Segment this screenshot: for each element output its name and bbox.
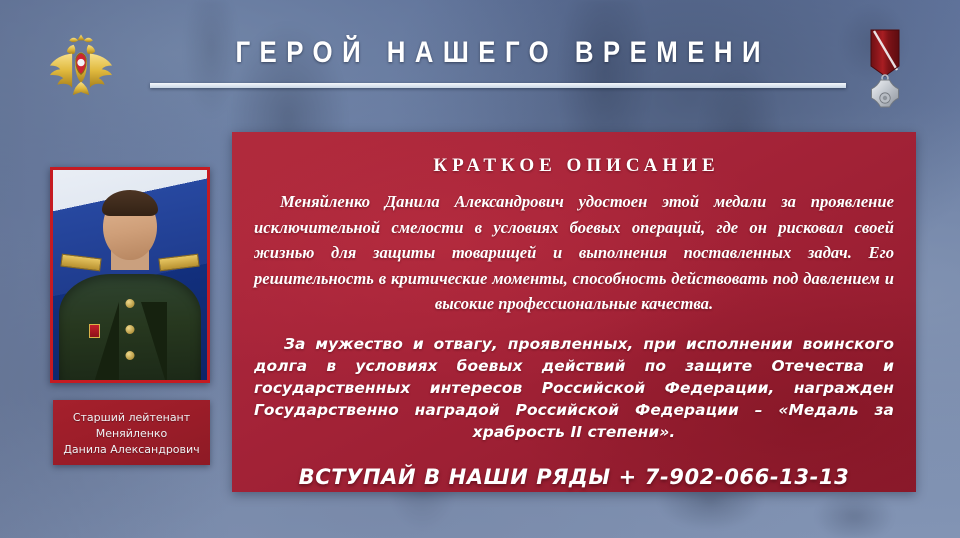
description-panel: КРАТКОЕ ОПИСАНИЕ Меняйленко Данила Алекс… bbox=[232, 132, 916, 492]
poster-canvas: ГЕРОЙ НАШЕГО ВРЕМЕНИ bbox=[0, 0, 960, 538]
tunic-lapel-left bbox=[93, 302, 119, 383]
tunic-button bbox=[126, 351, 135, 360]
chest-badge bbox=[89, 324, 100, 338]
portrait-image bbox=[53, 170, 207, 380]
header: ГЕРОЙ НАШЕГО ВРЕМЕНИ bbox=[0, 0, 960, 126]
epaulette-right bbox=[158, 254, 199, 272]
officer-name-caption: Старший лейтенант Меняйленко Данила Алек… bbox=[53, 400, 210, 465]
paragraph-one: Меняйленко Данила Александрович удостоен… bbox=[254, 189, 894, 317]
panel-heading: КРАТКОЕ ОПИСАНИЕ bbox=[254, 155, 894, 177]
caption-given-name: Данила Александрович bbox=[63, 442, 199, 458]
officer-portrait bbox=[50, 167, 210, 383]
page-title: ГЕРОЙ НАШЕГО ВРЕМЕНИ bbox=[199, 33, 798, 73]
recruitment-call-to-action: ВСТУПАЙ В НАШИ РЯДЫ + 7-902-066-13-13 bbox=[254, 465, 894, 489]
tunic-button bbox=[126, 325, 135, 334]
tunic-button bbox=[126, 299, 135, 308]
epaulette-left bbox=[60, 254, 101, 272]
title-underline bbox=[150, 83, 846, 88]
order-of-courage-medal-icon bbox=[856, 26, 914, 122]
caption-rank: Старший лейтенант bbox=[73, 410, 190, 426]
russian-mod-double-headed-eagle-icon bbox=[44, 30, 118, 104]
caption-surname: Меняйленко bbox=[96, 426, 168, 442]
paragraph-two: За мужество и отвагу, проявленных, при и… bbox=[254, 333, 894, 443]
tunic-lapel-right bbox=[141, 302, 167, 383]
hair bbox=[102, 190, 158, 216]
